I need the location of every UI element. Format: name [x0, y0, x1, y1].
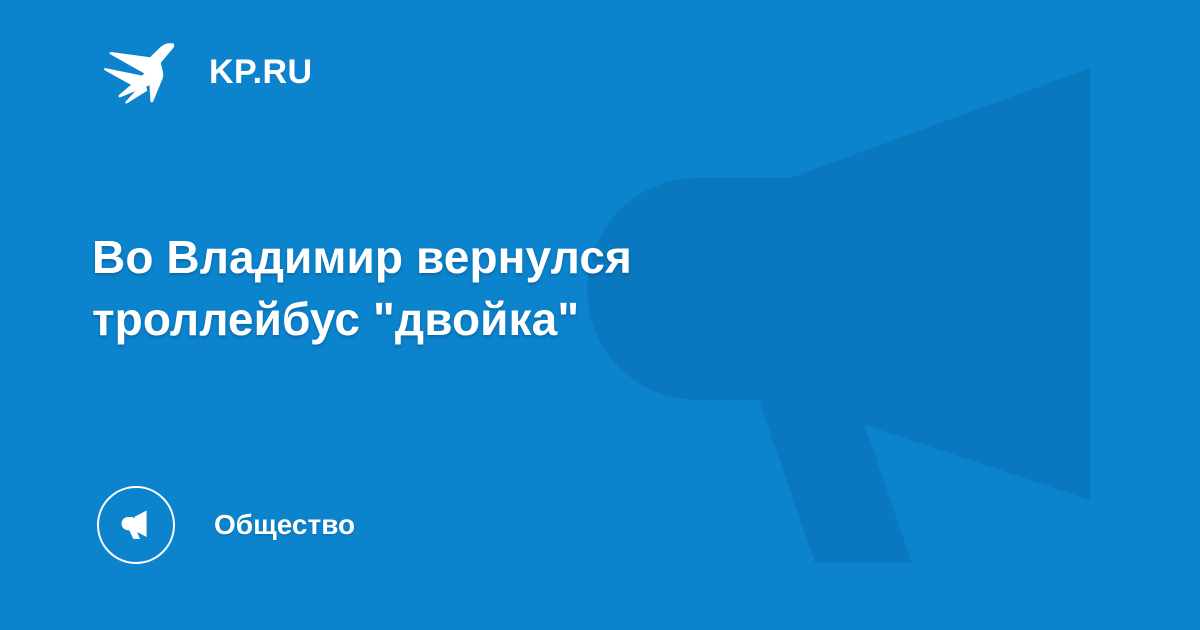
megaphone-icon — [97, 486, 175, 564]
brand-row: KP.RU — [103, 40, 312, 104]
page-title: Во Владимир вернулся троллейбус "двойка" — [92, 226, 812, 350]
swallow-bird-icon — [103, 40, 175, 104]
social-share-card: KP.RU Во Владимир вернулся троллейбус "д… — [0, 0, 1200, 630]
rubric-label: Общество — [214, 511, 355, 539]
rubric-badge: Общество — [97, 486, 355, 564]
brand-name: KP.RU — [209, 55, 312, 89]
